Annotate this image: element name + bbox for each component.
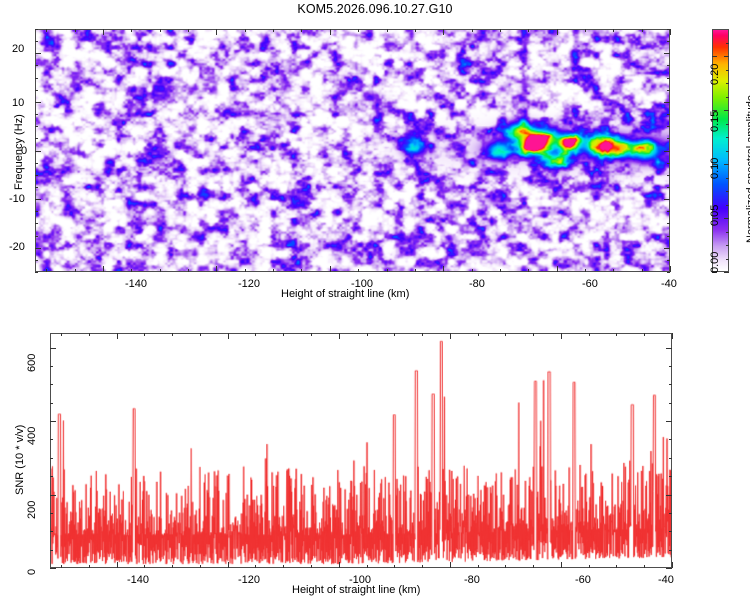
axis-tick [478,333,479,336]
axis-tick [505,333,506,336]
axis-tick [669,458,672,459]
axis-tick [667,187,670,188]
axis-tick [422,333,423,336]
axis-tick [557,266,558,272]
axis-tick [528,269,529,272]
axis-tick [669,550,672,551]
axis-tick [50,531,53,532]
axis-tick [642,29,643,32]
snr-xtick-m140: -140 [127,574,149,586]
axis-tick [367,333,368,336]
axis-tick [311,333,312,336]
snr-ytick-200: 200 [26,501,38,519]
axis-tick [667,41,670,42]
axis-tick [666,568,672,569]
axis-tick [172,565,173,568]
snr-xtick-m80: -80 [464,574,480,586]
axis-tick [89,565,90,568]
axis-tick [616,565,617,568]
axis-tick [669,403,672,404]
axis-tick [500,269,501,272]
axis-tick [667,126,670,127]
axis-tick [667,223,670,224]
axis-tick [188,269,189,272]
axis-tick [35,248,41,249]
colorbar-label: Normalized spectral amplitude [745,95,750,243]
axis-tick [726,232,729,233]
axis-tick [726,259,729,260]
axis-tick [35,114,38,115]
axis-tick [644,565,645,568]
axis-tick [273,29,274,32]
axis-tick [667,138,670,139]
axis-tick [561,333,562,339]
axis-tick [35,260,38,261]
snr-x-axis-label: Height of straight line (km) [292,584,420,596]
axis-tick [613,29,614,32]
axis-tick [228,333,229,339]
axis-tick [450,333,451,339]
spectrogram-plot-area[interactable] [35,29,670,272]
axis-tick [726,124,729,125]
axis-tick [585,29,586,32]
axis-tick [35,272,38,273]
axis-tick [669,476,672,477]
axis-tick [35,65,38,66]
axis-tick [500,29,501,32]
axis-tick [616,333,617,336]
axis-tick [667,65,670,66]
axis-tick [35,151,41,152]
axis-tick [726,83,729,84]
axis-tick [255,333,256,336]
axis-tick [160,29,161,32]
cbar-tick-015: 0.15 [709,111,721,132]
axis-tick [669,366,672,367]
axis-tick [443,29,444,35]
axis-tick [35,187,38,188]
axis-tick [666,348,672,349]
axis-tick [415,29,416,32]
spec-ytick-10: 10 [12,97,24,109]
axis-tick [561,562,562,568]
axis-tick [533,333,534,336]
axis-tick [505,565,506,568]
axis-tick [726,97,729,98]
axis-tick [103,29,104,35]
axis-tick [339,562,340,568]
axis-tick [35,102,41,103]
axis-tick [642,269,643,272]
axis-tick [245,269,246,272]
axis-tick [478,565,479,568]
spec-xtick-m40: -40 [661,278,677,290]
axis-tick [46,269,47,272]
spec-ytick-m20: -20 [9,241,25,253]
axis-tick [35,163,38,164]
axis-tick [726,43,729,44]
axis-tick [255,565,256,568]
axis-tick [311,565,312,568]
cbar-tick-005: 0.05 [709,205,721,226]
axis-tick [283,333,284,336]
axis-tick [667,90,670,91]
axis-tick [75,29,76,32]
axis-tick [144,333,145,336]
axis-tick [667,78,670,79]
axis-tick [75,269,76,272]
axis-tick [726,272,729,273]
axis-tick [667,29,670,30]
axis-tick [667,260,670,261]
axis-tick [89,333,90,336]
page-title: KOM5.2026.096.10.27.G10 [0,2,750,16]
axis-tick [273,269,274,272]
spec-xtick-m60: -60 [582,278,598,290]
axis-tick [589,565,590,568]
axis-tick [669,513,672,514]
axis-tick [726,151,729,152]
axis-tick [726,178,729,179]
axis-tick [387,269,388,272]
axis-tick [667,211,670,212]
axis-tick [103,266,104,272]
axis-tick [35,90,38,91]
axis-tick [50,403,53,404]
axis-tick [245,29,246,32]
snr-plot-area[interactable] [50,333,672,568]
axis-tick [35,78,38,79]
axis-tick [557,29,558,35]
axis-tick [50,439,53,440]
snr-ytick-0: 0 [26,569,38,575]
axis-tick [200,565,201,568]
axis-tick [664,53,670,54]
axis-tick [35,29,38,30]
spec-xtick-m80: -80 [469,278,485,290]
axis-tick [50,550,53,551]
axis-tick [533,565,534,568]
axis-tick [666,495,672,496]
axis-tick [472,269,473,272]
axis-tick [117,562,118,568]
axis-tick [387,29,388,32]
axis-tick [188,29,189,32]
axis-tick [117,333,118,339]
axis-tick [726,218,729,219]
axis-tick [50,384,53,385]
snr-ytick-400: 400 [26,427,38,445]
axis-tick [664,151,670,152]
axis-tick [50,421,56,422]
axis-tick [131,269,132,272]
snr-xtick-m120: -120 [238,574,260,586]
axis-tick [216,29,217,35]
axis-tick [301,269,302,272]
axis-tick [35,175,38,176]
axis-tick [50,458,53,459]
axis-tick [726,56,729,57]
axis-tick [664,248,670,249]
axis-tick [726,110,729,111]
axis-tick [726,70,729,71]
axis-tick [358,269,359,272]
axis-tick [131,29,132,32]
axis-tick [664,102,670,103]
axis-tick [330,266,331,272]
axis-tick [50,348,56,349]
axis-tick [726,205,729,206]
axis-tick [50,476,53,477]
axis-tick [50,513,53,514]
axis-tick [667,114,670,115]
axis-tick [61,333,62,336]
cbar-tick-020: 0.20 [709,64,721,85]
axis-tick [358,29,359,32]
snr-y-axis-label: SNR (10 * v/v) [14,425,26,495]
axis-tick [50,568,56,569]
snr-line-trace [51,334,671,567]
axis-tick [35,41,38,42]
axis-tick [644,333,645,336]
axis-tick [669,531,672,532]
axis-tick [712,56,717,57]
axis-tick [35,211,38,212]
spec-xtick-m140: -140 [125,278,147,290]
axis-tick [35,138,38,139]
axis-tick [35,53,41,54]
spec-ytick-m10: -10 [9,193,25,205]
snr-xtick-m40: -40 [658,574,674,586]
cbar-tick-000: 0.00 [709,252,721,273]
axis-tick [528,29,529,32]
axis-tick [339,333,340,339]
axis-tick [669,439,672,440]
axis-tick [585,269,586,272]
axis-tick [672,562,673,568]
axis-tick [301,29,302,32]
axis-tick [670,266,671,272]
axis-tick [35,236,38,237]
axis-tick [726,245,729,246]
axis-tick [283,565,284,568]
snr-ytick-600: 600 [26,354,38,372]
axis-tick [35,223,38,224]
axis-tick [667,163,670,164]
axis-tick [726,191,729,192]
spectrogram-x-axis-label: Height of straight line (km) [281,288,409,300]
axis-tick [35,126,38,127]
axis-tick [666,421,672,422]
axis-tick [50,495,56,496]
axis-tick [394,565,395,568]
spectrogram-y-axis-label: Frequency (Hz) [13,114,25,190]
spec-xtick-m120: -120 [238,278,260,290]
axis-tick [726,164,729,165]
axis-tick [61,565,62,568]
axis-tick [228,562,229,568]
axis-tick [367,565,368,568]
axis-tick [216,266,217,272]
axis-tick [144,565,145,568]
axis-tick [35,199,41,200]
axis-tick [172,333,173,336]
axis-tick [330,29,331,35]
cbar-tick-010: 0.10 [709,158,721,179]
axis-tick [46,29,47,32]
spec-ytick-20: 20 [12,43,24,55]
axis-tick [670,29,671,35]
axis-tick [160,269,161,272]
axis-tick [200,333,201,336]
axis-tick [667,236,670,237]
axis-tick [394,333,395,336]
axis-tick [726,137,729,138]
axis-tick [667,175,670,176]
axis-tick [664,199,670,200]
axis-tick [613,269,614,272]
axis-tick [669,384,672,385]
axis-tick [415,269,416,272]
axis-tick [422,565,423,568]
axis-tick [50,366,53,367]
axis-tick [450,562,451,568]
axis-tick [472,29,473,32]
snr-xtick-m60: -60 [575,574,591,586]
axis-tick [672,333,673,339]
spectrogram-image [36,30,669,271]
axis-tick [667,272,670,273]
axis-tick [443,266,444,272]
axis-tick [589,333,590,336]
